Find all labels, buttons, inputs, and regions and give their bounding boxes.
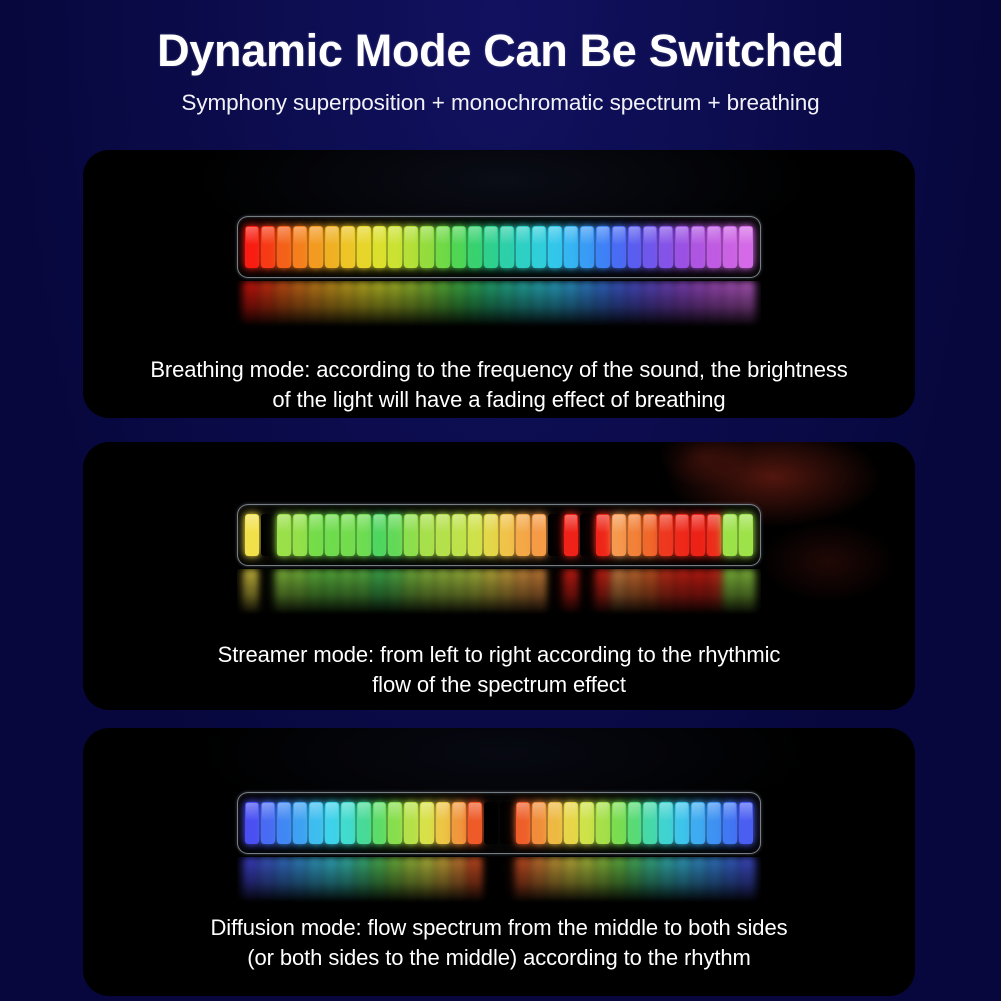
led-segment xyxy=(452,857,466,903)
led-segment xyxy=(659,802,673,844)
led-segment xyxy=(707,514,721,556)
led-segment xyxy=(356,857,370,903)
led-segment xyxy=(644,569,658,615)
led-segment xyxy=(404,226,418,268)
led-segment xyxy=(340,281,354,327)
led-segment xyxy=(276,857,290,903)
led-bar-reflection xyxy=(237,281,761,327)
led-segment xyxy=(420,857,434,903)
led-segment xyxy=(676,857,690,903)
led-segment xyxy=(324,569,338,615)
led-segment xyxy=(532,514,546,556)
led-segment xyxy=(245,802,259,844)
led-segment xyxy=(420,514,434,556)
led-segment xyxy=(724,569,738,615)
led-segment xyxy=(261,802,275,844)
led-segment xyxy=(468,857,482,903)
led-segment xyxy=(691,802,705,844)
led-segment xyxy=(723,226,737,268)
led-segment xyxy=(628,514,642,556)
led-segment xyxy=(723,802,737,844)
led-segment xyxy=(692,281,706,327)
led-segment xyxy=(452,226,466,268)
led-segment xyxy=(612,857,626,903)
caption-line-2: flow of the spectrum effect xyxy=(109,670,889,700)
led-segment xyxy=(675,226,689,268)
led-segment xyxy=(292,281,306,327)
led-segment xyxy=(372,281,386,327)
led-segment xyxy=(373,802,387,844)
caption-line-2: of the light will have a fading effect o… xyxy=(109,385,889,415)
led-segment xyxy=(675,514,689,556)
led-segment xyxy=(404,569,418,615)
led-strip xyxy=(245,226,753,268)
led-segment xyxy=(261,226,275,268)
led-segment xyxy=(532,569,546,615)
led-segment xyxy=(420,802,434,844)
led-segment xyxy=(596,281,610,327)
led-bar-frame xyxy=(237,504,761,566)
led-strip xyxy=(245,802,753,844)
led-segment xyxy=(532,857,546,903)
caption-line-1: Breathing mode: according to the frequen… xyxy=(109,355,889,385)
led-segment xyxy=(436,226,450,268)
led-segment xyxy=(596,569,610,615)
led-light-bar-breathing xyxy=(237,216,761,327)
led-segment xyxy=(276,569,290,615)
led-segment xyxy=(612,281,626,327)
led-segment xyxy=(691,514,705,556)
led-segment xyxy=(324,281,338,327)
led-segment xyxy=(675,802,689,844)
led-segment-off xyxy=(500,857,514,903)
led-segment xyxy=(341,226,355,268)
led-segment xyxy=(516,569,530,615)
led-segment xyxy=(500,226,514,268)
led-segment xyxy=(468,281,482,327)
led-segment-off xyxy=(260,569,274,615)
led-segment xyxy=(628,569,642,615)
led-segment xyxy=(660,569,674,615)
led-strip-reflection xyxy=(244,569,754,615)
led-segment xyxy=(643,802,657,844)
led-segment xyxy=(325,514,339,556)
led-segment xyxy=(596,802,610,844)
led-segment xyxy=(468,569,482,615)
led-segment xyxy=(420,281,434,327)
led-segment xyxy=(276,281,290,327)
led-segment xyxy=(659,226,673,268)
led-segment xyxy=(500,569,514,615)
led-segment xyxy=(740,569,754,615)
led-segment xyxy=(516,802,530,844)
led-bar-reflection xyxy=(237,569,761,615)
led-segment xyxy=(357,514,371,556)
led-segment xyxy=(260,281,274,327)
led-segment xyxy=(516,857,530,903)
led-segment xyxy=(404,281,418,327)
led-segment xyxy=(324,857,338,903)
led-segment xyxy=(580,857,594,903)
led-segment xyxy=(468,514,482,556)
led-segment xyxy=(308,857,322,903)
led-segment xyxy=(340,857,354,903)
led-segment xyxy=(740,281,754,327)
led-segment xyxy=(277,514,291,556)
led-segment xyxy=(643,514,657,556)
led-segment xyxy=(325,226,339,268)
led-segment xyxy=(548,802,562,844)
led-segment xyxy=(516,281,530,327)
led-segment xyxy=(484,226,498,268)
led-segment xyxy=(436,281,450,327)
led-segment xyxy=(404,802,418,844)
led-segment xyxy=(580,281,594,327)
led-segment xyxy=(388,281,402,327)
led-segment xyxy=(260,857,274,903)
led-segment xyxy=(293,514,307,556)
led-segment xyxy=(739,514,753,556)
led-segment-off xyxy=(580,569,594,615)
led-segment xyxy=(708,281,722,327)
led-segment xyxy=(436,514,450,556)
led-segment xyxy=(245,514,259,556)
led-segment xyxy=(739,226,753,268)
led-segment xyxy=(660,857,674,903)
led-segment xyxy=(452,514,466,556)
led-segment xyxy=(628,226,642,268)
led-segment xyxy=(468,802,482,844)
led-segment xyxy=(244,569,258,615)
led-segment xyxy=(692,857,706,903)
led-segment xyxy=(277,802,291,844)
led-segment xyxy=(388,802,402,844)
led-segment xyxy=(580,226,594,268)
led-segment xyxy=(596,514,610,556)
led-segment xyxy=(612,226,626,268)
led-segment xyxy=(436,802,450,844)
led-strip xyxy=(245,514,753,556)
led-segment xyxy=(500,281,514,327)
page-background: Dynamic Mode Can Be Switched Symphony su… xyxy=(0,0,1001,1001)
led-segment-off xyxy=(548,569,562,615)
panel-caption-streamer: Streamer mode: from left to right accord… xyxy=(109,640,889,699)
led-segment xyxy=(692,569,706,615)
led-segment xyxy=(452,281,466,327)
led-segment xyxy=(340,569,354,615)
led-segment xyxy=(293,802,307,844)
led-segment xyxy=(564,802,578,844)
led-segment xyxy=(532,281,546,327)
led-segment-off xyxy=(500,802,514,844)
led-segment xyxy=(357,802,371,844)
led-segment xyxy=(707,802,721,844)
led-segment xyxy=(612,802,626,844)
led-segment xyxy=(628,281,642,327)
header: Dynamic Mode Can Be Switched Symphony su… xyxy=(0,0,1001,150)
led-segment xyxy=(532,226,546,268)
led-segment xyxy=(436,569,450,615)
led-strip-reflection xyxy=(244,857,754,903)
led-segment xyxy=(309,514,323,556)
led-segment xyxy=(564,857,578,903)
led-segment xyxy=(372,857,386,903)
led-segment xyxy=(308,281,322,327)
led-segment xyxy=(308,569,322,615)
led-segment xyxy=(244,857,258,903)
led-segment xyxy=(548,857,562,903)
led-segment xyxy=(309,802,323,844)
led-segment xyxy=(245,226,259,268)
led-segment-off xyxy=(484,857,498,903)
led-segment xyxy=(356,281,370,327)
led-segment xyxy=(500,514,514,556)
led-light-bar-streamer xyxy=(237,504,761,615)
caption-line-2: (or both sides to the middle) according … xyxy=(109,943,889,973)
led-segment xyxy=(612,569,626,615)
led-segment xyxy=(644,857,658,903)
led-segment xyxy=(309,226,323,268)
led-segment xyxy=(612,514,626,556)
led-segment xyxy=(596,857,610,903)
mode-panel-diffusion: Diffusion mode: flow spectrum from the m… xyxy=(83,728,915,996)
led-segment xyxy=(532,802,546,844)
led-segment xyxy=(484,281,498,327)
led-segment xyxy=(723,514,737,556)
led-segment xyxy=(660,281,674,327)
led-segment xyxy=(341,802,355,844)
caption-line-1: Diffusion mode: flow spectrum from the m… xyxy=(109,913,889,943)
led-segment xyxy=(708,569,722,615)
led-segment xyxy=(580,802,594,844)
led-segment xyxy=(373,226,387,268)
led-strip-reflection xyxy=(244,281,754,327)
led-segment xyxy=(643,226,657,268)
led-segment xyxy=(388,857,402,903)
led-segment xyxy=(373,514,387,556)
led-segment xyxy=(452,569,466,615)
led-segment xyxy=(277,226,291,268)
led-bar-frame xyxy=(237,216,761,278)
led-segment xyxy=(628,802,642,844)
led-segment xyxy=(564,569,578,615)
led-segment xyxy=(707,226,721,268)
led-segment xyxy=(436,857,450,903)
led-bar-reflection xyxy=(237,857,761,903)
led-segment xyxy=(341,514,355,556)
led-segment xyxy=(516,226,530,268)
led-segment xyxy=(484,514,498,556)
led-segment xyxy=(404,857,418,903)
caption-line-1: Streamer mode: from left to right accord… xyxy=(109,640,889,670)
led-segment xyxy=(404,514,418,556)
led-segment xyxy=(484,569,498,615)
led-segment xyxy=(516,514,530,556)
led-segment xyxy=(724,857,738,903)
led-bar-frame xyxy=(237,792,761,854)
led-segment xyxy=(420,226,434,268)
led-segment xyxy=(659,514,673,556)
led-segment xyxy=(356,569,370,615)
led-segment-off xyxy=(484,802,498,844)
led-segment xyxy=(388,514,402,556)
led-segment xyxy=(564,226,578,268)
led-segment xyxy=(676,281,690,327)
led-segment xyxy=(292,857,306,903)
led-segment xyxy=(292,569,306,615)
led-segment xyxy=(628,857,642,903)
panel-caption-breathing: Breathing mode: according to the frequen… xyxy=(109,355,889,414)
led-segment xyxy=(644,281,658,327)
panel-caption-diffusion: Diffusion mode: flow spectrum from the m… xyxy=(109,913,889,972)
led-segment xyxy=(596,226,610,268)
led-segment xyxy=(548,281,562,327)
led-segment xyxy=(357,226,371,268)
led-segment xyxy=(564,514,578,556)
led-segment xyxy=(468,226,482,268)
led-segment xyxy=(708,857,722,903)
led-segment xyxy=(739,802,753,844)
led-segment xyxy=(388,569,402,615)
led-segment xyxy=(244,281,258,327)
led-segment-off xyxy=(548,514,562,556)
led-segment xyxy=(388,226,402,268)
led-segment xyxy=(676,569,690,615)
led-segment xyxy=(691,226,705,268)
led-segment xyxy=(452,802,466,844)
mode-panel-breathing: Breathing mode: according to the frequen… xyxy=(83,150,915,418)
led-segment xyxy=(372,569,386,615)
led-segment xyxy=(293,226,307,268)
led-segment xyxy=(548,226,562,268)
led-segment xyxy=(325,802,339,844)
page-title: Dynamic Mode Can Be Switched xyxy=(0,0,1001,77)
led-segment xyxy=(420,569,434,615)
led-segment xyxy=(724,281,738,327)
mode-panel-streamer: Streamer mode: from left to right accord… xyxy=(83,442,915,710)
led-segment-off xyxy=(261,514,275,556)
led-light-bar-diffusion xyxy=(237,792,761,903)
led-segment xyxy=(564,281,578,327)
page-subtitle: Symphony superposition + monochromatic s… xyxy=(0,77,1001,116)
led-segment-off xyxy=(580,514,594,556)
led-segment xyxy=(740,857,754,903)
